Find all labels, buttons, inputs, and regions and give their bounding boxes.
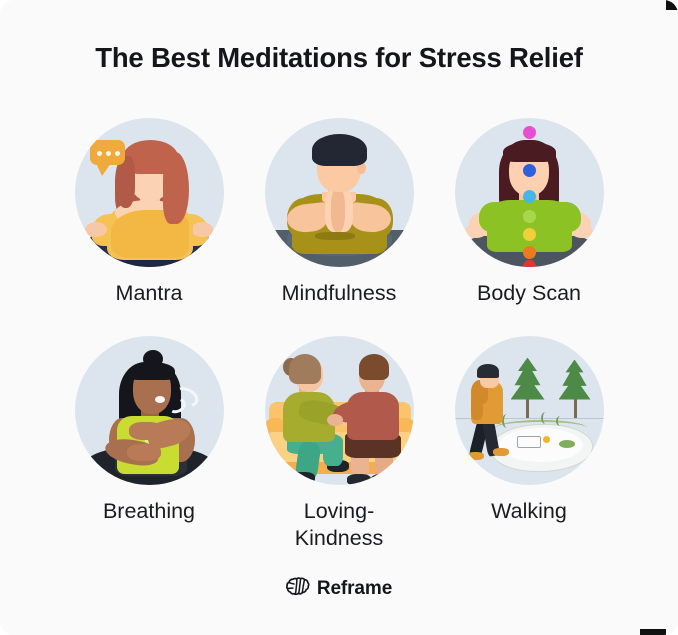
person2-hand bbox=[327, 414, 343, 426]
mantra-hair-side-right bbox=[163, 152, 189, 224]
meditation-label-body-scan: Body Scan bbox=[454, 280, 604, 308]
breathing-hand-on-belly bbox=[127, 444, 161, 461]
speech-dot-1 bbox=[97, 151, 102, 156]
meditation-label-loving-kindness: Loving- Kindness bbox=[264, 498, 414, 553]
speech-bubble-tail bbox=[96, 163, 111, 176]
brain-icon bbox=[286, 577, 310, 601]
illustration-breathing bbox=[75, 336, 224, 485]
pine-tree-1 bbox=[511, 358, 545, 400]
mantra-hand-right bbox=[191, 222, 213, 237]
walking-arm bbox=[471, 392, 483, 420]
label-line-1: Loving- bbox=[304, 499, 375, 523]
chakra-third-eye bbox=[523, 164, 536, 177]
page-title: The Best Meditations for Stress Relief bbox=[0, 42, 678, 74]
meditation-label-breathing: Breathing bbox=[74, 498, 224, 526]
illustration-walking bbox=[455, 336, 604, 485]
pine-tree-2 bbox=[559, 360, 591, 400]
bodyscan-top bbox=[487, 200, 572, 252]
label-line-2: Kindness bbox=[295, 526, 383, 550]
meditation-label-mantra: Mantra bbox=[74, 280, 224, 308]
chakra-root bbox=[523, 260, 536, 267]
meditation-card-walking[interactable]: Walking bbox=[434, 336, 624, 553]
person2-shoe-right bbox=[371, 474, 395, 485]
mantra-hand-left bbox=[85, 222, 107, 237]
meditation-card-mantra[interactable]: Mantra bbox=[54, 118, 244, 308]
person1-hair bbox=[289, 354, 321, 384]
mindfulness-prayer-hands-shadow bbox=[331, 188, 345, 232]
pond-bench bbox=[517, 436, 541, 448]
illustration-body-scan bbox=[455, 118, 604, 267]
footer-brand: Reframe bbox=[0, 577, 678, 601]
grass-tuft-3 bbox=[556, 416, 564, 426]
illustration-mindfulness bbox=[265, 118, 414, 267]
chakra-crown bbox=[523, 126, 536, 139]
brand-name: Reframe bbox=[317, 578, 392, 600]
walking-hair bbox=[477, 364, 499, 378]
breathing-hair-bun bbox=[143, 350, 163, 368]
bottom-right-artifact bbox=[640, 629, 666, 635]
walking-shoe-left bbox=[467, 452, 484, 460]
meditation-grid: Mantra bbox=[0, 118, 678, 553]
person2-shoe-left bbox=[347, 474, 371, 485]
illustration-loving-kindness bbox=[265, 336, 414, 485]
chakra-heart bbox=[523, 210, 536, 223]
mindfulness-shirt-fold bbox=[315, 232, 355, 240]
meditation-label-mindfulness: Mindfulness bbox=[264, 280, 414, 308]
speech-dot-3 bbox=[115, 151, 120, 156]
breathing-chin-highlight bbox=[155, 396, 165, 403]
top-right-artifact bbox=[666, 0, 678, 10]
walking-shoe-right bbox=[493, 448, 509, 456]
meditation-row-2: Breathing bbox=[0, 336, 678, 553]
bodyscan-bangs bbox=[503, 142, 556, 162]
meditation-row-1: Mantra bbox=[0, 118, 678, 308]
meditation-label-walking: Walking bbox=[454, 498, 604, 526]
breathing-hand-on-chest bbox=[129, 422, 163, 440]
chakra-sacral bbox=[523, 246, 536, 259]
chakra-throat bbox=[523, 190, 536, 203]
pond-bush bbox=[559, 440, 575, 448]
meditation-card-body-scan[interactable]: Body Scan bbox=[434, 118, 624, 308]
speech-dot-2 bbox=[106, 151, 111, 156]
meditation-card-breathing[interactable]: Breathing bbox=[54, 336, 244, 553]
person1-shoe-front bbox=[291, 472, 315, 484]
person2-hair bbox=[359, 354, 389, 380]
mindfulness-hair bbox=[312, 134, 367, 166]
meditation-card-mindfulness[interactable]: Mindfulness bbox=[244, 118, 434, 308]
grass-tuft-2 bbox=[541, 412, 550, 424]
pond-flower bbox=[543, 436, 550, 443]
infographic-card: The Best Meditations for Stress Relief bbox=[0, 0, 678, 635]
meditation-card-loving-kindness[interactable]: Loving- Kindness bbox=[244, 336, 434, 553]
grass-tuft-1 bbox=[502, 414, 512, 428]
chakra-solar-plexus bbox=[523, 228, 536, 241]
illustration-mantra bbox=[75, 118, 224, 267]
